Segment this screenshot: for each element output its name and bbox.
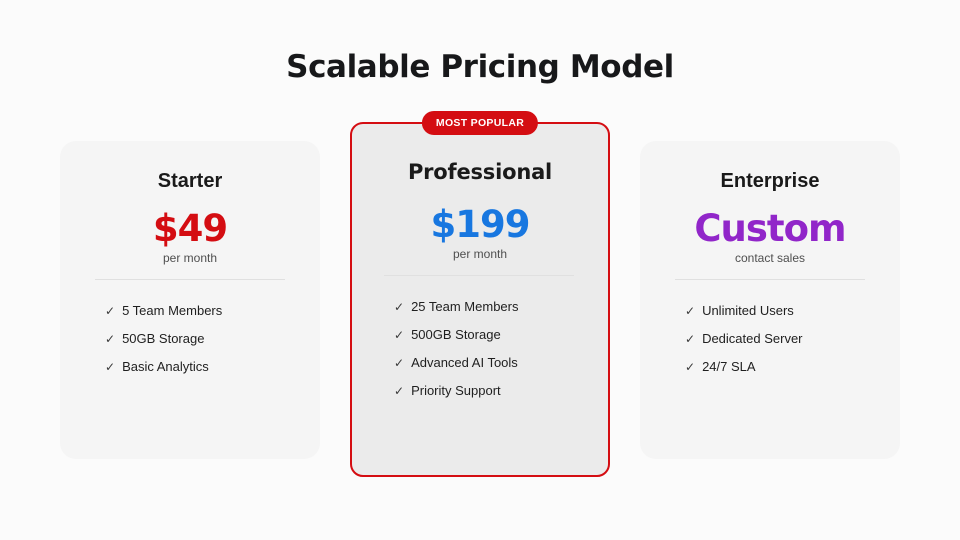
card-divider — [95, 279, 285, 280]
check-icon: ✓ — [685, 303, 695, 319]
plan-period: per month — [60, 251, 320, 266]
plan-period: contact sales — [640, 251, 900, 266]
feature-label: Basic Analytics — [122, 359, 209, 375]
feature-label: 24/7 SLA — [702, 359, 756, 375]
plan-name: Enterprise — [640, 169, 900, 193]
feature-label: Dedicated Server — [702, 331, 802, 347]
pricing-cards-container: Starter $49 per month ✓ 5 Team Members ✓… — [0, 0, 960, 540]
card-divider — [384, 275, 574, 276]
plan-price: $49 — [60, 207, 320, 251]
pricing-card-starter[interactable]: Starter $49 per month ✓ 5 Team Members ✓… — [60, 141, 320, 459]
pricing-card-enterprise[interactable]: Enterprise Custom contact sales ✓ Unlimi… — [640, 141, 900, 459]
card-divider — [675, 279, 865, 280]
check-icon: ✓ — [394, 299, 404, 315]
check-icon: ✓ — [105, 331, 115, 347]
check-icon: ✓ — [685, 359, 695, 375]
feature-list: ✓ Unlimited Users ✓ Dedicated Server ✓ 2… — [685, 303, 885, 387]
check-icon: ✓ — [685, 331, 695, 347]
list-item: ✓ Dedicated Server — [685, 331, 885, 347]
feature-list: ✓ 25 Team Members ✓ 500GB Storage ✓ Adva… — [394, 299, 594, 411]
plan-name: Starter — [60, 169, 320, 193]
plan-period: per month — [352, 247, 608, 262]
feature-label: 25 Team Members — [411, 299, 518, 315]
list-item: ✓ 500GB Storage — [394, 327, 594, 343]
list-item: ✓ 25 Team Members — [394, 299, 594, 315]
feature-label: 500GB Storage — [411, 327, 501, 343]
feature-label: Advanced AI Tools — [411, 355, 518, 371]
list-item: ✓ Priority Support — [394, 383, 594, 399]
plan-name: Professional — [352, 160, 608, 184]
list-item: ✓ Unlimited Users — [685, 303, 885, 319]
plan-price: Custom — [640, 207, 900, 251]
feature-label: Unlimited Users — [702, 303, 794, 319]
list-item: ✓ 24/7 SLA — [685, 359, 885, 375]
status-badge: MOST POPULAR — [422, 111, 538, 135]
list-item: ✓ Advanced AI Tools — [394, 355, 594, 371]
check-icon: ✓ — [394, 327, 404, 343]
feature-label: Priority Support — [411, 383, 501, 399]
list-item: ✓ Basic Analytics — [105, 359, 305, 375]
check-icon: ✓ — [105, 303, 115, 319]
feature-list: ✓ 5 Team Members ✓ 50GB Storage ✓ Basic … — [105, 303, 305, 387]
check-icon: ✓ — [394, 355, 404, 371]
feature-label: 5 Team Members — [122, 303, 222, 319]
feature-label: 50GB Storage — [122, 331, 204, 347]
pricing-page: Scalable Pricing Model Starter $49 per m… — [0, 0, 960, 540]
check-icon: ✓ — [105, 359, 115, 375]
list-item: ✓ 5 Team Members — [105, 303, 305, 319]
check-icon: ✓ — [394, 383, 404, 399]
plan-price: $199 — [352, 203, 608, 247]
list-item: ✓ 50GB Storage — [105, 331, 305, 347]
pricing-card-professional[interactable]: MOST POPULAR Professional $199 per month… — [350, 122, 610, 477]
